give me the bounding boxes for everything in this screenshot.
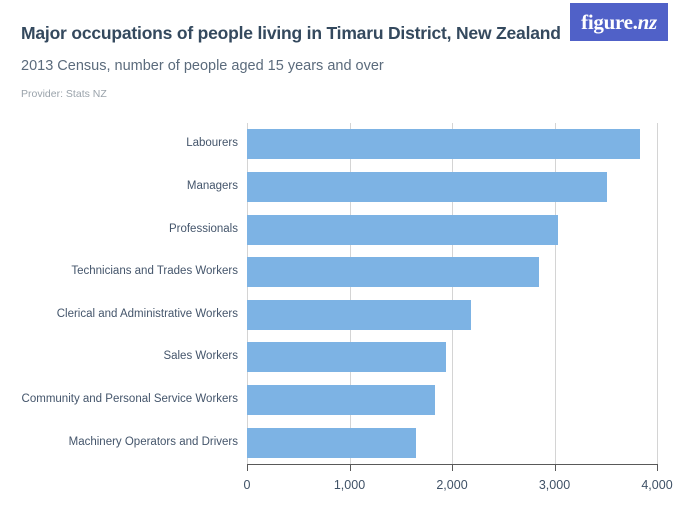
x-tick-mark — [350, 464, 351, 471]
bar-row[interactable] — [247, 172, 607, 202]
category-label: Managers — [187, 181, 238, 193]
bar-row[interactable] — [247, 385, 435, 415]
x-tick-label: 3,000 — [539, 478, 570, 492]
chart-page: Major occupations of people living in Ti… — [0, 0, 700, 525]
bar-row[interactable] — [247, 300, 471, 330]
category-label: Community and Personal Service Workers — [22, 394, 238, 406]
x-tick-mark — [452, 464, 453, 471]
category-label: Clerical and Administrative Workers — [57, 309, 238, 321]
bar-row[interactable] — [247, 342, 446, 372]
x-tick-label: 4,000 — [641, 478, 672, 492]
bar-row[interactable] — [247, 257, 539, 287]
category-label: Machinery Operators and Drivers — [69, 437, 238, 449]
bar-series — [247, 123, 657, 464]
x-tick-label: 0 — [244, 478, 251, 492]
bar-row[interactable] — [247, 215, 558, 245]
bar[interactable] — [247, 300, 471, 330]
gridline-4000 — [657, 123, 658, 464]
bar-chart: 01,0002,0003,0004,000 LabourersManagersP… — [0, 0, 700, 525]
category-label: Sales Workers — [163, 351, 238, 363]
bar[interactable] — [247, 385, 435, 415]
bar[interactable] — [247, 172, 607, 202]
x-tick-label: 1,000 — [334, 478, 365, 492]
category-label: Technicians and Trades Workers — [71, 266, 238, 278]
x-tick-mark — [555, 464, 556, 471]
bar[interactable] — [247, 215, 558, 245]
x-tick-mark — [247, 464, 248, 471]
bar-row[interactable] — [247, 129, 640, 159]
bar[interactable] — [247, 342, 446, 372]
x-tick-mark — [657, 464, 658, 471]
category-label: Labourers — [186, 138, 238, 150]
bar[interactable] — [247, 257, 539, 287]
category-label: Professionals — [169, 224, 238, 236]
bar[interactable] — [247, 129, 640, 159]
bar-row[interactable] — [247, 428, 416, 458]
bar[interactable] — [247, 428, 416, 458]
x-tick-label: 2,000 — [436, 478, 467, 492]
plot-area — [247, 123, 657, 464]
